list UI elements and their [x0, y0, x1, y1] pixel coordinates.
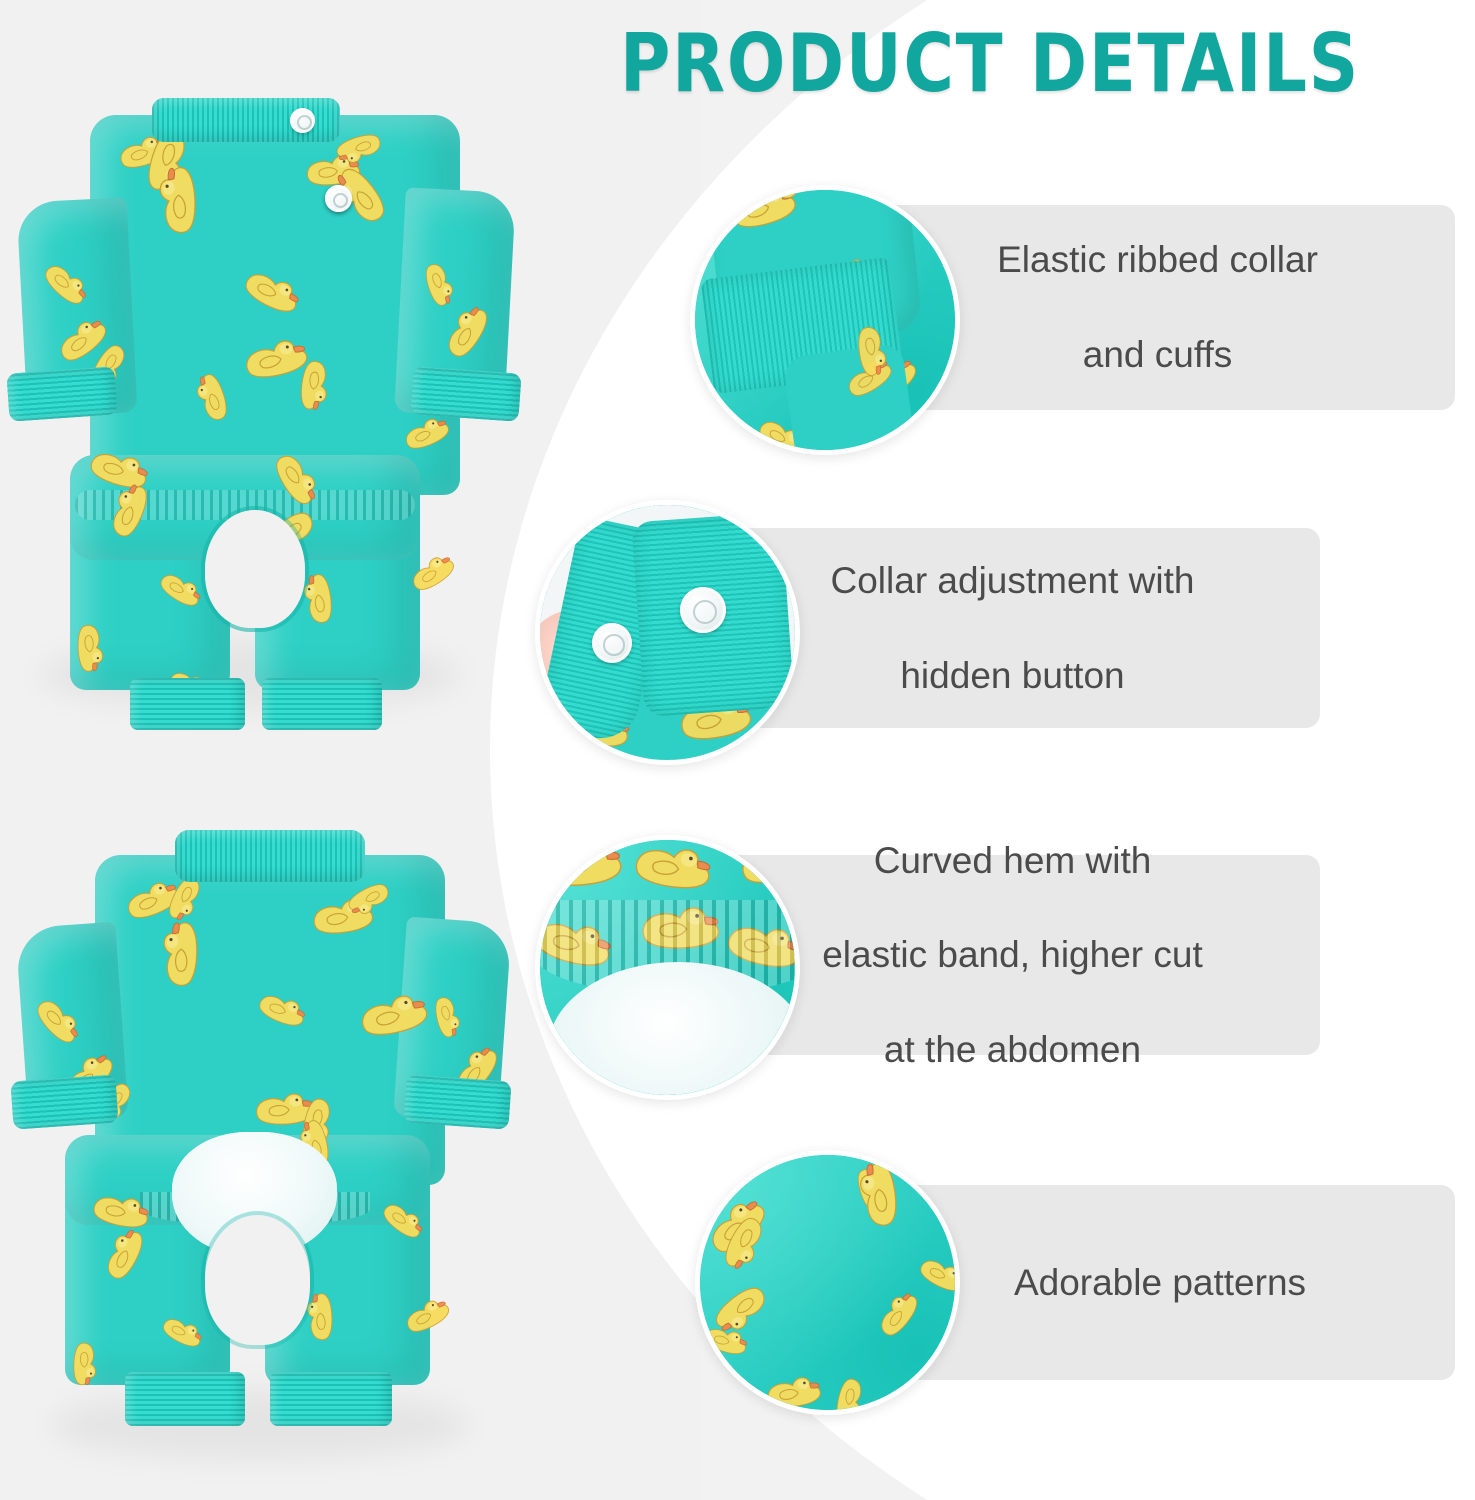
- detail-3-photo-circle: [535, 835, 800, 1100]
- detail-2-photo-circle: [535, 500, 800, 765]
- garment-right-cuff-top: [410, 366, 521, 421]
- detail-2-label-text: Collar adjustment with hidden button: [729, 557, 1296, 699]
- product-photo-bottom: [0, 760, 520, 1460]
- collar-snap-button-1-top: [290, 108, 315, 133]
- garment-left-cuff-top: [6, 366, 117, 421]
- hidden-snap-button-large: [680, 587, 726, 633]
- garment2-right-cuff-top: [403, 1074, 511, 1129]
- detail-4-photo-circle: [695, 1150, 960, 1415]
- infographic-canvas: PRODUCT DETAILS Elastic ribbed collar an…: [0, 0, 1475, 1500]
- collar-snap-button-2-top: [325, 185, 352, 212]
- detail-1-label-text: Elastic ribbed collar and cuffs: [884, 236, 1431, 378]
- garment2-hind-left-cuff-top: [125, 1372, 245, 1426]
- detail-1-photo-circle: [690, 185, 960, 455]
- detail-3-label-text: Curved hem with elastic band, higher cut…: [729, 837, 1296, 1074]
- garment2-hind-right-cuff-top: [270, 1372, 392, 1426]
- garment2-collar-band-top: [175, 830, 365, 882]
- garment2-belly-opening-top: [205, 1215, 310, 1345]
- page-title: PRODUCT DETAILS: [620, 18, 1351, 110]
- detail-4-label-text: Adorable patterns: [889, 1259, 1431, 1306]
- garment-belly-opening-top: [205, 510, 305, 628]
- garment-hind-left-cuff-top: [130, 678, 245, 730]
- garment2-left-cuff-top: [10, 1074, 118, 1129]
- garment-hind-right-cuff-top: [262, 678, 382, 730]
- product-photo-top: [0, 40, 500, 720]
- hidden-snap-button-small: [592, 623, 632, 663]
